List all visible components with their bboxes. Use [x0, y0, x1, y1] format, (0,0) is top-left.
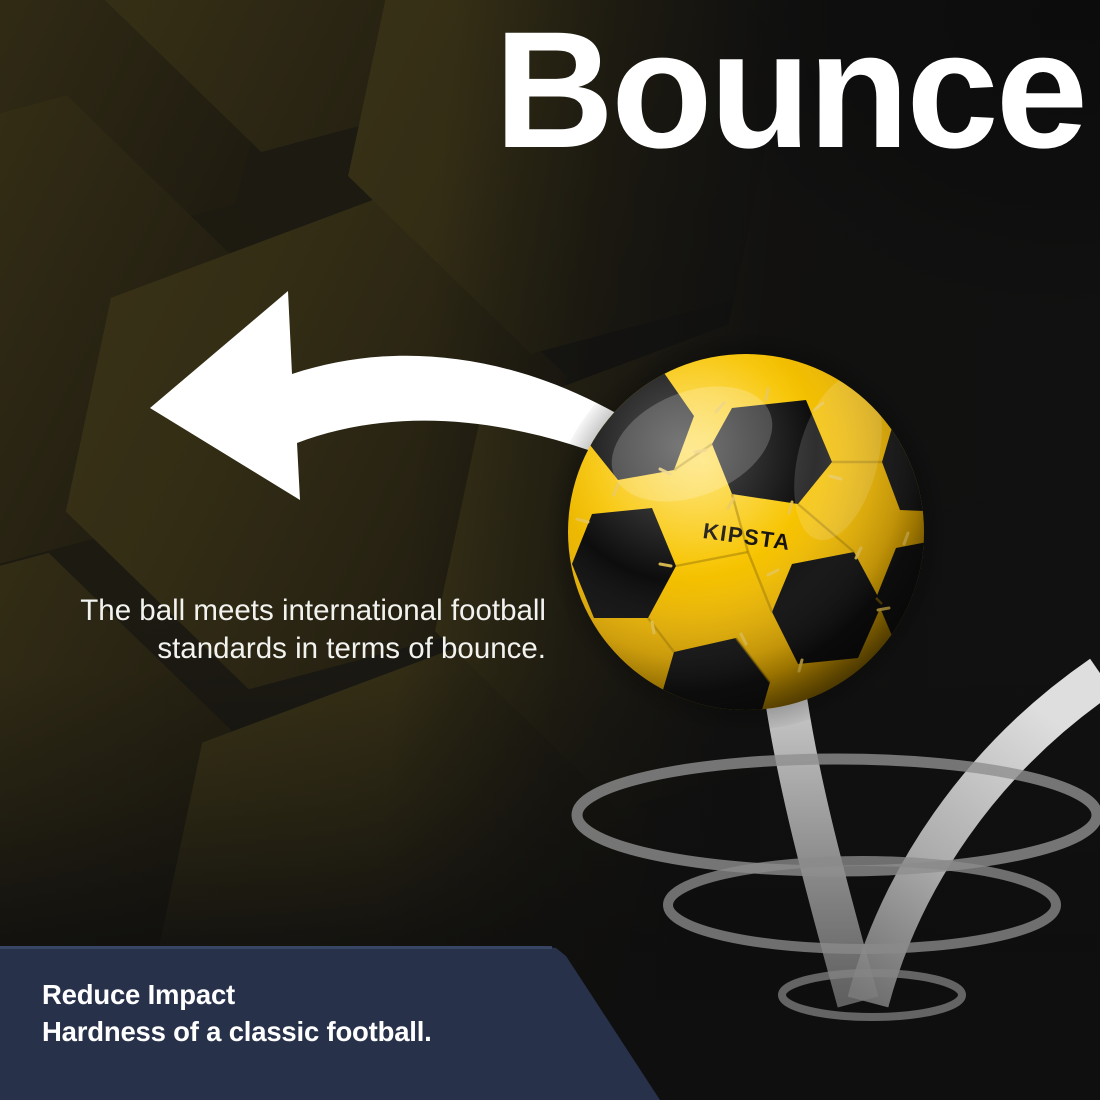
page-title: Bounce [460, 8, 1085, 174]
football-image: KIPSTA [566, 352, 926, 712]
banner-top-edge [0, 946, 552, 949]
description-line-1: The ball meets international football [26, 592, 546, 630]
banner-heading: Reduce Impact [42, 977, 432, 1014]
banner-subheading: Hardness of a classic football. [42, 1014, 432, 1051]
description-text: The ball meets international football st… [26, 592, 546, 669]
feature-card: KIPSTA Bounce The ball meets internation… [0, 0, 1100, 1100]
football-svg: KIPSTA [566, 352, 926, 712]
banner-text: Reduce Impact Hardness of a classic foot… [42, 977, 432, 1050]
description-line-2: standards in terms of bounce. [26, 630, 546, 668]
